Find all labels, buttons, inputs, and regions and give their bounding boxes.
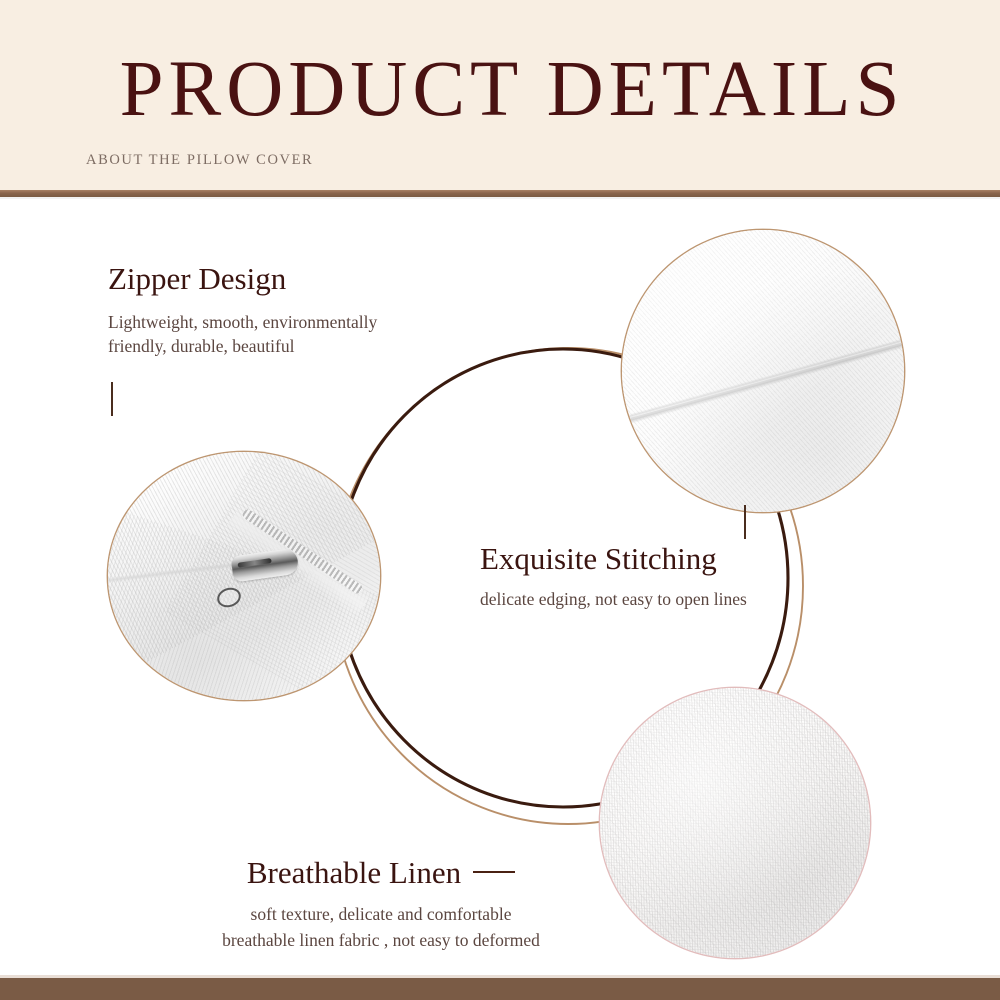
product-details-infographic: PRODUCT DETAILS ABOUT THE PILLOW COVER [0, 0, 1000, 1000]
feature-desc-line: delicate edging, not easy to open lines [480, 587, 747, 611]
photo-shading-layer [622, 230, 904, 512]
feature-title-linen: Breathable Linen [247, 855, 461, 890]
feature-desc-linen: soft texture, delicate and comfortable b… [186, 901, 576, 953]
feature-desc-line: Lightweight, smooth, environmentally [108, 310, 377, 334]
zipper-connector-tick [111, 382, 113, 416]
footer-bar [0, 978, 1000, 1000]
feature-desc-zipper: Lightweight, smooth, environmentally fri… [108, 310, 377, 358]
stitching-closeup-photo [622, 230, 904, 512]
feature-title-stitching: Exquisite Stitching [480, 542, 747, 576]
feature-desc-line: friendly, durable, beautiful [108, 334, 377, 358]
photo-shading-layer [108, 452, 380, 700]
feature-desc-stitching: delicate edging, not easy to open lines [480, 587, 747, 611]
stitching-connector-tick [744, 505, 746, 539]
feature-desc-line: soft texture, delicate and comfortable [186, 901, 576, 927]
feature-desc-line: breathable linen fabric , not easy to de… [186, 927, 576, 953]
zipper-closeup-photo [108, 452, 380, 700]
feature-title-zipper: Zipper Design [108, 262, 377, 296]
photo-shading-layer [600, 688, 870, 958]
linen-connector-dash-icon [473, 871, 515, 873]
feature-title-linen-row: Breathable Linen [186, 856, 576, 890]
linen-fabric-photo [600, 688, 870, 958]
feature-block-linen: Breathable Linen soft texture, delicate … [186, 856, 576, 953]
feature-block-stitching: Exquisite Stitching delicate edging, not… [480, 542, 747, 611]
feature-block-zipper: Zipper Design Lightweight, smooth, envir… [108, 262, 377, 358]
